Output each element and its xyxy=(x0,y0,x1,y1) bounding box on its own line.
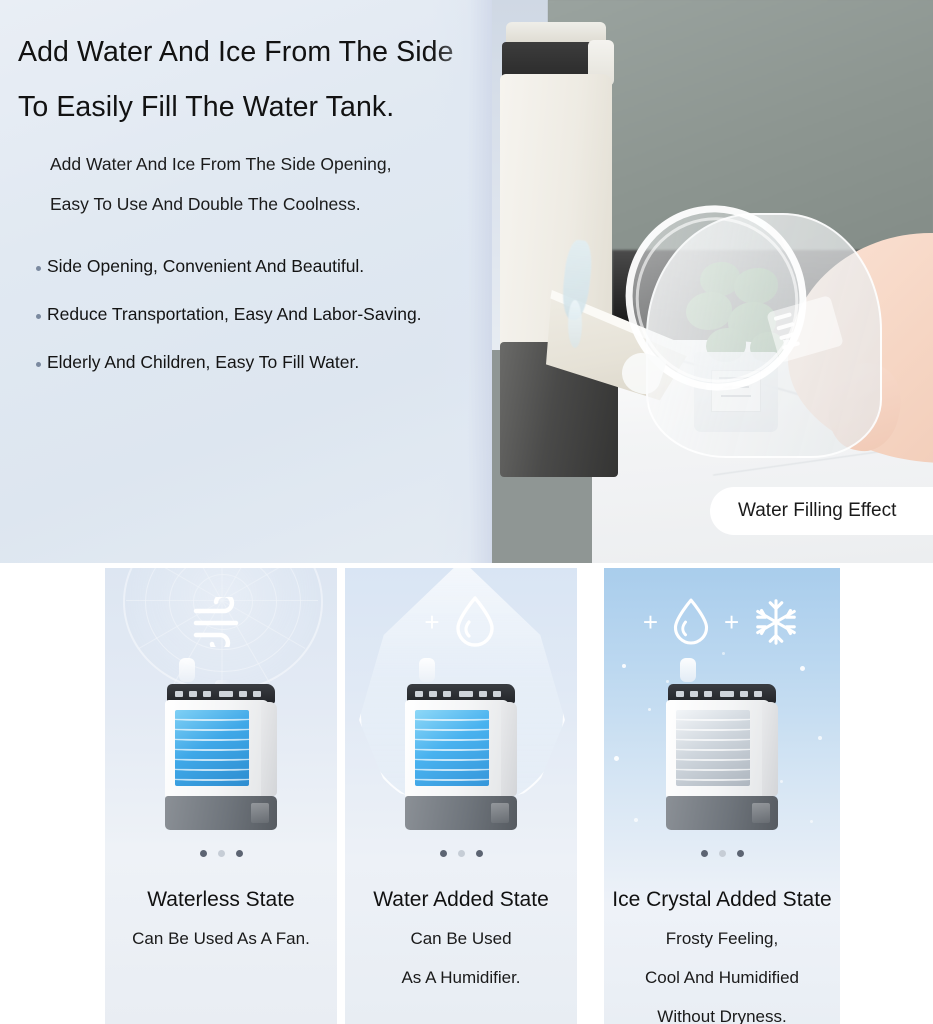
headline-line-2: To Easily Fill The Water Tank. xyxy=(18,93,488,122)
device-grille xyxy=(415,710,489,786)
panel-icon-row xyxy=(105,582,337,662)
device-air-cooler xyxy=(405,680,517,830)
hero-section: Add Water And Ice From The Side To Easil… xyxy=(0,0,933,563)
product-feature-page: Add Water And Ice From The Side To Easil… xyxy=(0,0,933,1024)
panel-icon-row: + + xyxy=(604,582,840,662)
panel-ice-crystal-added-state[interactable]: + + xyxy=(604,568,840,1024)
list-item: Reduce Transportation, Easy And Labor-Sa… xyxy=(36,306,486,354)
dot-1[interactable] xyxy=(440,850,447,857)
bullet-dot-icon xyxy=(36,314,41,319)
subcopy-line-1: Add Water And Ice From The Side Opening, xyxy=(50,156,480,174)
wind-icon xyxy=(190,597,252,647)
hero-subcopy: Add Water And Ice From The Side Opening,… xyxy=(50,156,480,213)
panel-title: Water Added State xyxy=(345,888,577,912)
bullet-dot-icon xyxy=(36,362,41,367)
panel-waterless-state[interactable]: Waterless State Can Be Used As A Fan. xyxy=(105,568,337,1024)
carousel-dots[interactable] xyxy=(105,850,337,857)
panel-icon-row: + xyxy=(345,582,577,662)
dot-3[interactable] xyxy=(476,850,483,857)
page-title: Add Water And Ice From The Side To Easil… xyxy=(18,38,488,121)
panel-description: Can Be Used As A Humidifier. xyxy=(345,930,577,1008)
list-item: Elderly And Children, Easy To Fill Water… xyxy=(36,354,486,402)
snowflake-icon xyxy=(751,596,801,648)
panel-description: Can Be Used As A Fan. xyxy=(105,930,337,969)
panel-desc-line: Frosty Feeling, xyxy=(604,930,840,947)
panel-water-added-state[interactable]: + xyxy=(345,568,577,1024)
plus-icon: + xyxy=(724,609,739,635)
device-grille xyxy=(175,710,249,786)
photo-measuring-cup xyxy=(620,185,890,485)
panel-title: Waterless State xyxy=(105,888,337,912)
device-grille xyxy=(676,710,750,786)
carousel-dots[interactable] xyxy=(345,850,577,857)
water-drop-icon xyxy=(670,596,712,648)
dot-2[interactable] xyxy=(458,850,465,857)
panel-title: Ice Crystal Added State xyxy=(604,888,840,912)
panel-desc-line: Can Be Used As A Fan. xyxy=(105,930,337,947)
plus-icon: + xyxy=(424,609,439,635)
panel-desc-line: Without Dryness. xyxy=(604,1008,840,1024)
dot-2[interactable] xyxy=(719,850,726,857)
panel-description: Frosty Feeling, Cool And Humidified With… xyxy=(604,930,840,1024)
panel-desc-line: Cool And Humidified xyxy=(604,969,840,986)
photo-badge-label: Water Filling Effect xyxy=(710,500,896,522)
dot-1[interactable] xyxy=(701,850,708,857)
dot-3[interactable] xyxy=(236,850,243,857)
bullet-text: Reduce Transportation, Easy And Labor-Sa… xyxy=(47,306,422,324)
water-filling-photo: Water Filling Effect xyxy=(492,0,933,563)
list-item: Side Opening, Convenient And Beautiful. xyxy=(36,258,486,306)
hero-text-panel: Add Water And Ice From The Side To Easil… xyxy=(0,0,492,563)
photo-water-stream-secondary xyxy=(568,300,582,348)
feature-bullet-list: Side Opening, Convenient And Beautiful. … xyxy=(36,258,486,402)
bullet-dot-icon xyxy=(36,266,41,271)
dot-2[interactable] xyxy=(218,850,225,857)
subcopy-line-2: Easy To Use And Double The Coolness. xyxy=(50,196,480,214)
carousel-dots[interactable] xyxy=(604,850,840,857)
water-drop-icon xyxy=(452,594,498,650)
dot-1[interactable] xyxy=(200,850,207,857)
bullet-text: Elderly And Children, Easy To Fill Water… xyxy=(47,354,359,372)
state-panels-section: Waterless State Can Be Used As A Fan. + xyxy=(0,568,933,1024)
panel-desc-line: Can Be Used xyxy=(345,930,577,947)
status-badge: Water Filling Effect xyxy=(710,487,933,535)
dot-3[interactable] xyxy=(737,850,744,857)
plus-icon: + xyxy=(643,609,658,635)
device-air-cooler xyxy=(666,680,778,830)
panel-desc-line: As A Humidifier. xyxy=(345,969,577,986)
device-air-cooler xyxy=(165,680,277,830)
bullet-text: Side Opening, Convenient And Beautiful. xyxy=(47,258,364,276)
headline-line-1: Add Water And Ice From The Side xyxy=(18,38,488,67)
